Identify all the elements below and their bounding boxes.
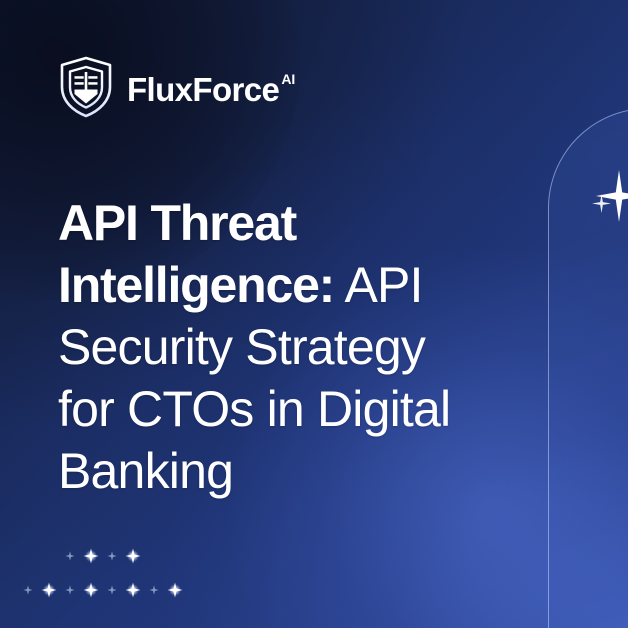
social-card: FluxForce AI API Threat Intelligence: AP…: [0, 0, 628, 628]
page-title-strong: API Threat Intelligence:: [58, 195, 334, 313]
brand-superscript: AI: [281, 72, 295, 86]
sparkle-icon-large: [596, 170, 628, 222]
brand-logo[interactable]: FluxForce AI: [58, 56, 295, 118]
sparkle-icon-small: [592, 194, 611, 213]
shield-icon: [58, 56, 114, 118]
network-grid-decoration: [0, 518, 260, 628]
brand-name: FluxForce: [127, 73, 279, 106]
page-title: API Threat Intelligence: API Security St…: [58, 192, 488, 502]
brand-name-wrap: FluxForce AI: [127, 69, 295, 106]
arch-outline-decoration: [548, 108, 628, 628]
